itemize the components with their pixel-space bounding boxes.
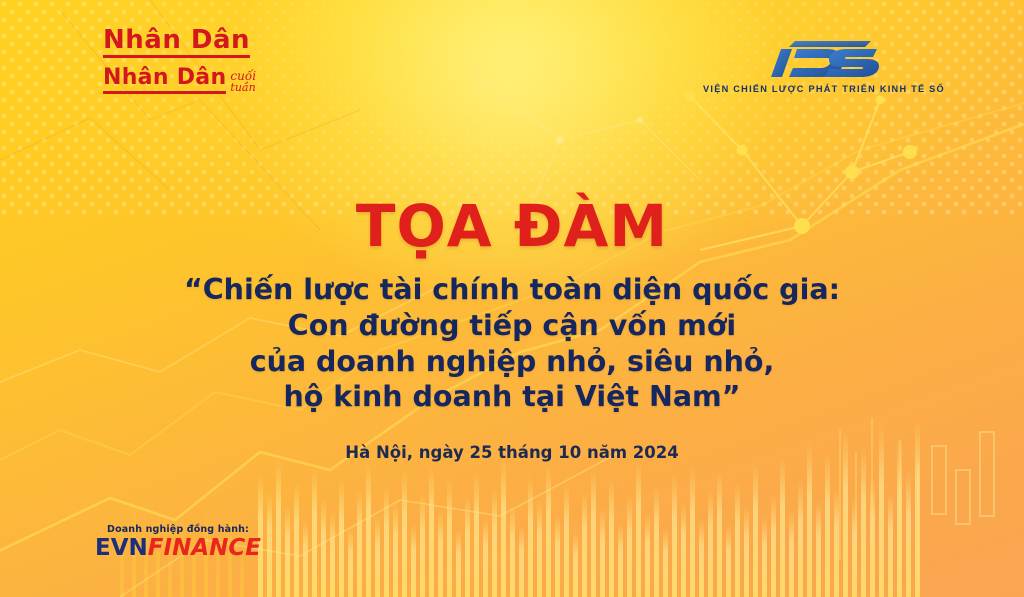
sponsor-label: Doanh nghiệp đồng hành:	[88, 524, 268, 535]
event-subject: “Chiến lược tài chính toàn diện quốc gia…	[0, 272, 1024, 415]
nhan-dan-logo-line1: Nhân Dân	[103, 27, 250, 58]
evn-finance-logo: EVNFINANCE	[88, 537, 268, 560]
page-title: TỌA ĐÀM	[0, 192, 1024, 260]
subject-line-3: của doanh nghiệp nhỏ, siêu nhỏ,	[0, 344, 1024, 380]
subject-line-1: “Chiến lược tài chính toàn diện quốc gia…	[0, 272, 1024, 308]
event-poster: Nhân Dân Nhân Dân cuối tuần	[0, 0, 1024, 597]
nhan-dan-logo-suffix: cuối tuần	[230, 71, 256, 94]
subject-line-2: Con đường tiếp cận vốn mới	[0, 308, 1024, 344]
nhan-dan-logo: Nhân Dân Nhân Dân cuối tuần	[103, 27, 353, 94]
event-date: Hà Nội, ngày 25 tháng 10 năm 2024	[0, 443, 1024, 462]
sponsor-block: Doanh nghiệp đồng hành: EVNFINANCE	[88, 524, 268, 560]
nhan-dan-suffix-bottom: tuần	[230, 83, 256, 93]
subject-line-4: hộ kinh doanh tại Việt Nam”	[0, 379, 1024, 415]
ids-wordmark-icon	[765, 33, 883, 79]
nhan-dan-logo-line2-row: Nhân Dân cuối tuần	[103, 67, 353, 94]
nhan-dan-logo-line2: Nhân Dân	[103, 67, 226, 94]
evn-finance-part1: EVN	[95, 535, 148, 561]
ids-subtitle: VIỆN CHIẾN LƯỢC PHÁT TRIỂN KINH TẾ SỐ	[684, 84, 964, 94]
evn-finance-part2: FINANCE	[148, 535, 261, 561]
ids-logo: VIỆN CHIẾN LƯỢC PHÁT TRIỂN KINH TẾ SỐ	[684, 33, 964, 94]
